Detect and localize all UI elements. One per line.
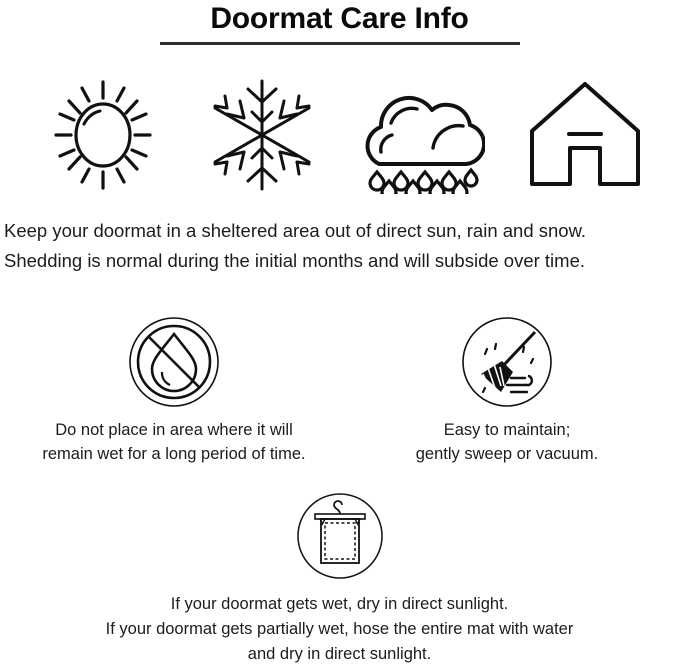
sweep-line-2: gently sweep or vacuum. xyxy=(337,442,677,466)
page-header: Doormat Care Info xyxy=(0,0,679,45)
care-tip-no-water: Do not place in area where it will remai… xyxy=(4,312,344,466)
snowflake-icon xyxy=(187,72,337,197)
hanging-mat-dry-icon xyxy=(296,492,384,580)
broom-sweep-icon xyxy=(461,316,553,408)
no-water-line-2: remain wet for a long period of time. xyxy=(4,442,344,466)
rain-cloud-icon xyxy=(348,72,498,197)
drying-line-1: If your doormat gets wet, dry in direct … xyxy=(0,592,679,617)
sweep-line-1: Easy to maintain; xyxy=(337,418,677,442)
no-water-line-1: Do not place in area where it will xyxy=(4,418,344,442)
care-tip-sweep-caption: Easy to maintain; gently sweep or vacuum… xyxy=(337,418,677,466)
intro-paragraph: Keep your doormat in a sheltered area ou… xyxy=(0,216,679,276)
drying-line-2: If your doormat gets partially wet, hose… xyxy=(0,617,679,642)
care-tips-row: Do not place in area where it will remai… xyxy=(0,312,679,462)
intro-line-1: Keep your doormat in a sheltered area ou… xyxy=(4,216,675,246)
drying-instructions-section: If your doormat gets wet, dry in direct … xyxy=(0,488,679,667)
weather-icon-row xyxy=(0,72,679,197)
drying-instructions-caption: If your doormat gets wet, dry in direct … xyxy=(0,592,679,667)
house-icon xyxy=(510,72,660,197)
title-underline-rule xyxy=(160,42,520,45)
no-water-icon xyxy=(128,316,220,408)
care-tip-sweep: Easy to maintain; gently sweep or vacuum… xyxy=(337,312,677,466)
page-title: Doormat Care Info xyxy=(0,0,679,36)
intro-line-2: Shedding is normal during the initial mo… xyxy=(4,246,675,276)
sun-icon xyxy=(28,72,178,197)
care-tip-no-water-caption: Do not place in area where it will remai… xyxy=(4,418,344,466)
